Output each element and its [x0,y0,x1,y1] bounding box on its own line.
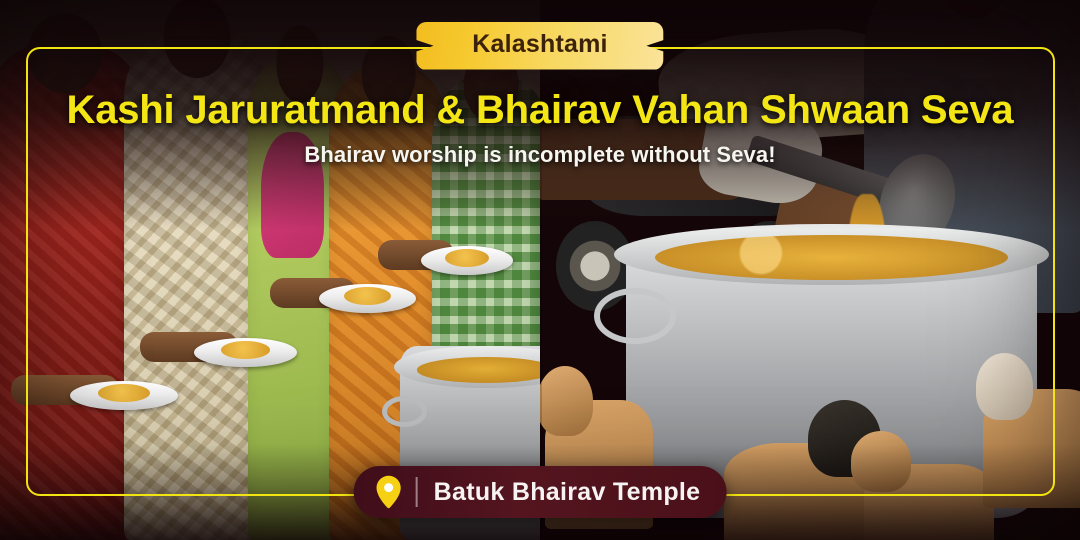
page-subtitle: Bhairav worship is incomplete without Se… [0,142,1080,168]
left-photo-pot-handle [382,396,427,427]
left-photo-food-2 [221,341,270,359]
location-badge: Batuk Bhairav Temple [354,466,727,518]
location-name: Batuk Bhairav Temple [434,478,701,507]
occasion-badge: Kalashtami [416,22,663,70]
right-photo-dog-1-head [540,366,593,436]
photo-seam-divider [540,0,542,540]
left-photo-food-1 [98,384,150,402]
location-badge-divider [416,477,418,507]
right-photo-pot-curry [655,235,1008,280]
location-badge-pill: Batuk Bhairav Temple [354,466,727,518]
location-pin-icon [376,475,402,509]
poster-canvas: Kalashtami Kashi Jaruratmand & Bhairav V… [0,0,1080,540]
right-photo-dog-4 [983,389,1080,508]
right-photo-dog-3-head [851,431,911,491]
left-photo-food-4 [445,249,489,267]
right-photo-dog-4-head [976,353,1033,420]
right-photo-dog-2 [724,443,864,540]
right-photo-dog-3 [864,464,994,540]
right-photo-pot-handle [594,288,676,344]
left-photo-pot-curry [417,357,540,382]
page-title: Kashi Jaruratmand & Bhairav Vahan Shwaan… [0,88,1080,133]
left-photo-food-3 [344,287,391,305]
left-photo-plate-3 [319,284,416,313]
left-photo-plate-2 [194,338,297,367]
right-photo-server-head [941,0,1009,19]
occasion-badge-label: Kalashtami [472,31,607,59]
occasion-badge-ribbon: Kalashtami [416,22,663,70]
headline-block: Kashi Jaruratmand & Bhairav Vahan Shwaan… [0,88,1080,168]
right-photo [540,0,1080,540]
left-photo [0,0,540,540]
